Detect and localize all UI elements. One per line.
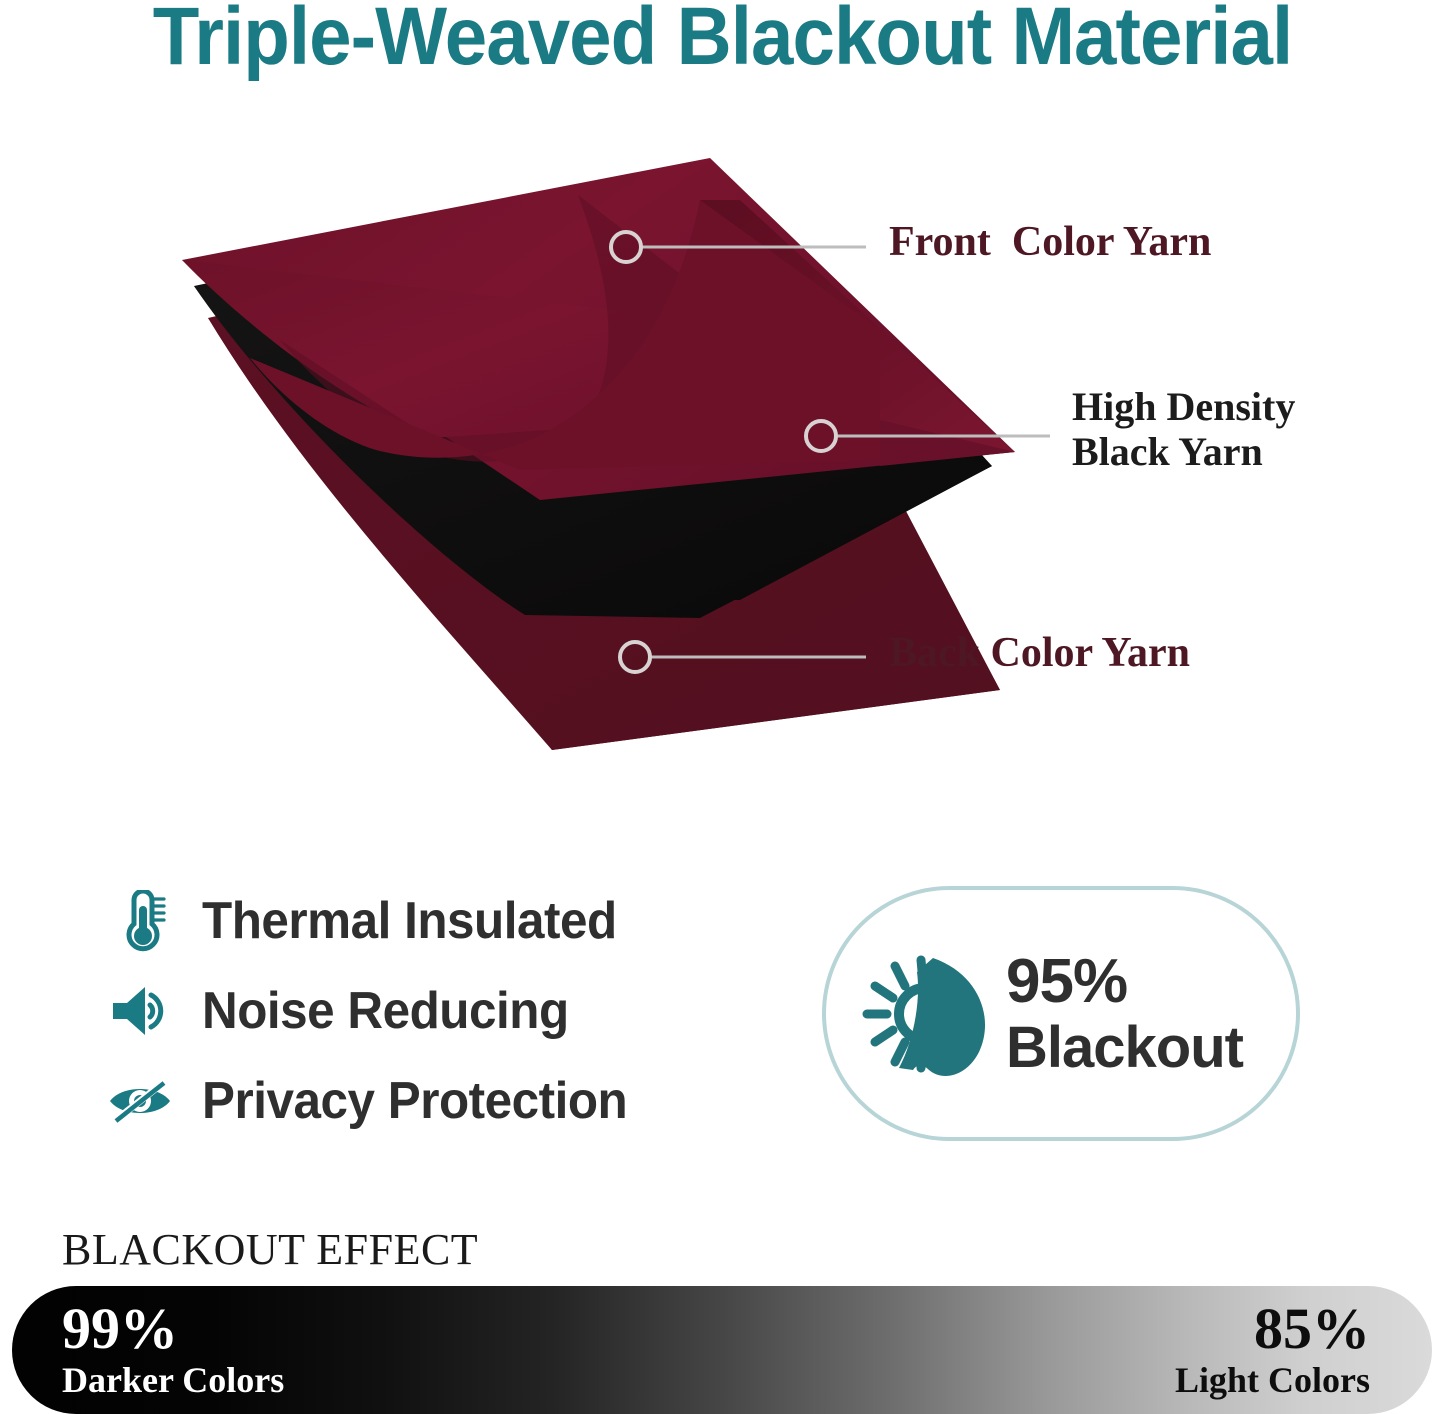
sun-blocked-icon [826, 946, 1006, 1082]
feature-item-noise-reducing: Noise Reducing [104, 966, 744, 1056]
blackout-effect-gradient-bar: 99% Darker Colors 85% Light Colors [12, 1286, 1432, 1414]
eye-off-icon [104, 1064, 176, 1138]
blackout-stat-darker-caption: Darker Colors [62, 1362, 284, 1398]
callout-label-line1: High Density [1072, 384, 1295, 429]
blackout-stat-darker-percent: 99% [62, 1300, 284, 1358]
feature-label-privacy-protection: Privacy Protection [202, 1071, 627, 1131]
callout-label-line2: Black Yarn [1072, 429, 1263, 474]
blackout-badge-text: 95% Blackout [1006, 951, 1243, 1077]
feature-list: Thermal Insulated Noise Reducing Privacy… [104, 876, 744, 1146]
feature-label-noise-reducing: Noise Reducing [202, 981, 569, 1041]
feature-item-privacy-protection: Privacy Protection [104, 1056, 744, 1146]
callout-label-front-color-yarn: Front Color Yarn [889, 219, 1211, 266]
blackout-stat-darker-colors: 99% Darker Colors [62, 1300, 284, 1398]
blackout-percentage-badge: 95% Blackout [822, 886, 1300, 1141]
feature-item-thermal-insulated: Thermal Insulated [104, 876, 744, 966]
blackout-stat-light-colors: 85% Light Colors [1175, 1300, 1370, 1398]
feature-label-thermal-insulated: Thermal Insulated [202, 891, 617, 951]
blackout-badge-word: Blackout [1006, 1019, 1243, 1077]
blackout-badge-percent: 95% [1006, 951, 1243, 1013]
speaker-sound-icon [104, 974, 176, 1048]
blackout-effect-heading: BLACKOUT EFFECT [62, 1224, 478, 1275]
page-title: Triple-Weaved Blackout Material [51, 0, 1395, 84]
thermometer-icon [104, 884, 176, 958]
callout-label-back-color-yarn: Back Color Yarn [889, 630, 1190, 677]
blackout-stat-light-caption: Light Colors [1175, 1362, 1370, 1398]
callout-label-high-density-black-yarn: High Density Black Yarn [1072, 385, 1372, 475]
blackout-stat-light-percent: 85% [1175, 1300, 1370, 1358]
